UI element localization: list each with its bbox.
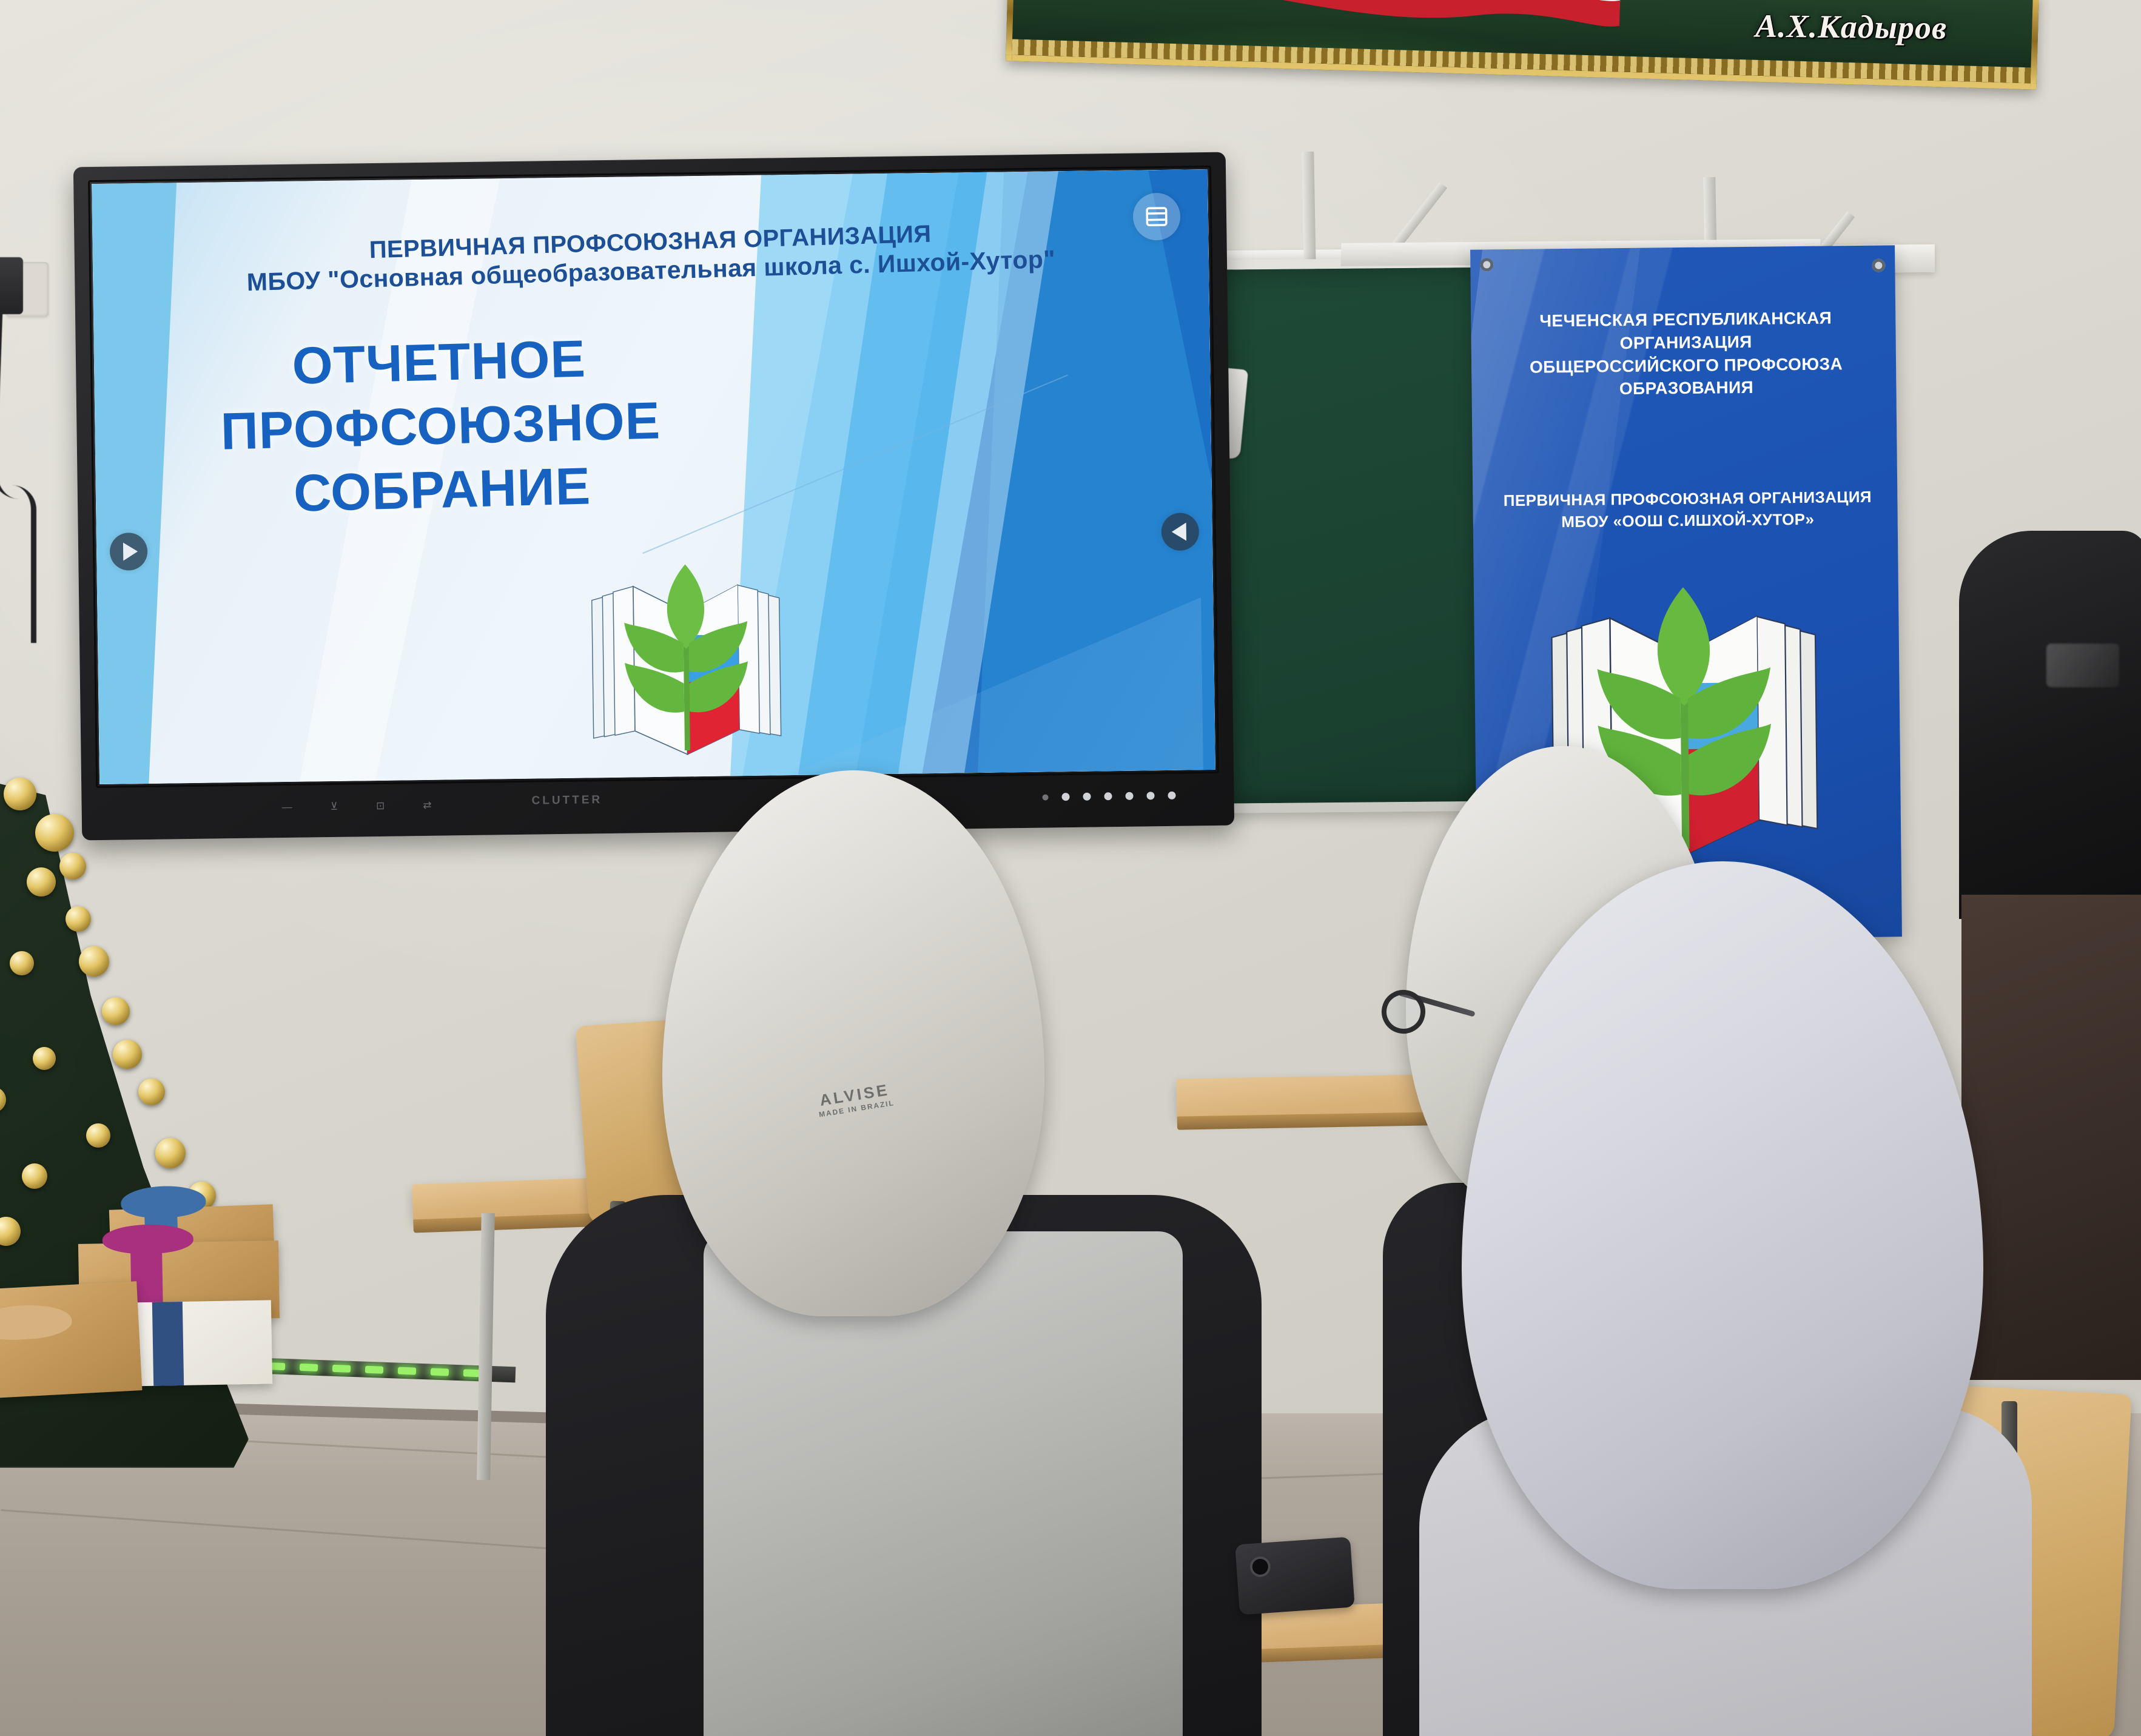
banner-line-2: ОБЩЕРОССИЙСКОГО ПРОФСОЮЗА ОБРАЗОВАНИЯ <box>1491 352 1882 402</box>
tree-ornament <box>22 1163 47 1189</box>
poster-name-label: А.Х.Кадыров <box>1755 7 1948 46</box>
attendee-right-lavender <box>1413 861 2056 1736</box>
port-label-4: ⇄ <box>423 799 432 812</box>
attendee-front-grey-vest: ALVISE MADE IN BRAZIL <box>534 770 1322 1736</box>
slide-union-logo <box>576 563 796 760</box>
port-label-1: — <box>282 801 293 813</box>
gift-bow-kraft <box>0 1303 73 1342</box>
display-screen[interactable]: ПЕРВИЧНАЯ ПРОФСОЮЗНАЯ ОРГАНИЗАЦИЯ МБОУ "… <box>92 169 1215 784</box>
tree-ornament <box>113 1040 142 1069</box>
banner-line-4: МБОУ «ООШ С.ИШХОЙ-ХУТОР» <box>1493 508 1883 534</box>
tree-ornament <box>35 814 74 852</box>
tree-ornament <box>138 1078 165 1105</box>
gift-kraft-large <box>0 1281 143 1399</box>
banner-line-3: ПЕРВИЧНАЯ ПРОФСОЮЗНАЯ ОРГАНИЗАЦИЯ <box>1492 486 1883 512</box>
tree-ornament <box>102 997 130 1025</box>
phone-on-desk[interactable] <box>1235 1537 1355 1615</box>
mount-bracket-vertical-1 <box>1302 152 1316 271</box>
tree-ornament <box>4 778 36 810</box>
interactive-display-panel[interactable]: ПЕРВИЧНАЯ ПРОФСОЮЗНАЯ ОРГАНИЗАЦИЯ МБОУ "… <box>73 152 1234 841</box>
grey-hijab <box>662 770 1044 1316</box>
standing-person-jacket <box>1959 531 2141 919</box>
tree-ornament <box>79 946 109 977</box>
banner-grommet-right <box>1872 259 1885 272</box>
grey-vest <box>704 1231 1183 1736</box>
play-next-triangle-icon <box>123 542 137 560</box>
phone-camera-lens <box>1249 1556 1271 1578</box>
power-cable-lower <box>12 485 36 643</box>
power-plug <box>0 257 23 314</box>
tree-ornament <box>86 1123 110 1148</box>
tree-ornament <box>27 867 56 897</box>
play-prev-triangle-icon <box>1171 523 1186 541</box>
jacket-print <box>2046 644 2119 687</box>
gift-ribbon-navy <box>152 1302 184 1386</box>
tree-ornament <box>155 1138 186 1168</box>
classroom-scene: А.Х.Кадыров ЧЕЧЕНСКАЯ РЕСПУБЛИКАНСКАЯ ОР… <box>0 0 2141 1736</box>
lavender-hijab <box>1462 861 1983 1589</box>
tree-ornament <box>59 853 86 880</box>
banner-subheading: ПЕРВИЧНАЯ ПРОФСОЮЗНАЯ ОРГАНИЗАЦИЯ МБОУ «… <box>1492 486 1883 534</box>
presentation-slide[interactable]: ПЕРВИЧНАЯ ПРОФСОЮЗНАЯ ОРГАНИЗАЦИЯ МБОУ "… <box>92 169 1215 784</box>
display-port-labels: — ⊻ ⊡ ⇄ <box>281 792 548 819</box>
slideshow-glyph <box>1144 204 1170 230</box>
banner-heading: ЧЕЧЕНСКАЯ РЕСПУБЛИКАНСКАЯ ОРГАНИЗАЦИЯ ОБ… <box>1490 306 1882 402</box>
port-label-2: ⊻ <box>331 801 339 813</box>
banner-line-1: ЧЕЧЕНСКАЯ РЕСПУБЛИКАНСКАЯ ОРГАНИЗАЦИЯ <box>1490 306 1881 356</box>
port-label-3: ⊡ <box>376 800 386 812</box>
banner-grommet-left <box>1480 258 1493 271</box>
slide-title: ОТЧЕТНОЕ ПРОФСОЮЗНОЕ СОБРАНИЕ <box>93 322 789 530</box>
tree-ornament <box>66 906 91 932</box>
tree-ornament <box>10 951 34 975</box>
tree-ornament <box>33 1047 56 1070</box>
